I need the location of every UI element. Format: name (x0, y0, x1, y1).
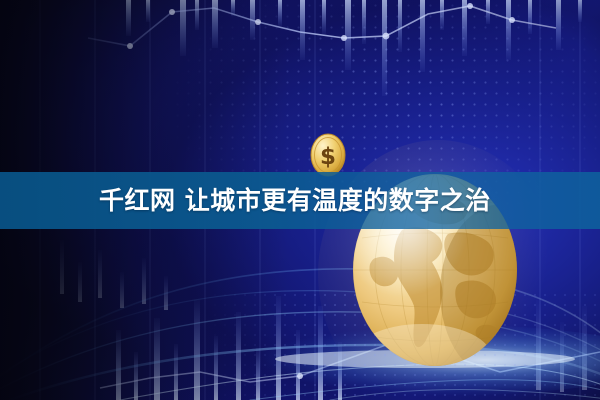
banner-image: $ 千红网 让城市更有温度的数字之治 (0, 0, 600, 400)
gold-dollar-coin: $ (310, 133, 346, 177)
page-title: 千红网 让城市更有温度的数字之治 (99, 188, 491, 213)
coin-dollar-symbol: $ (320, 144, 336, 170)
title-band: 千红网 让城市更有温度的数字之治 (0, 172, 600, 229)
